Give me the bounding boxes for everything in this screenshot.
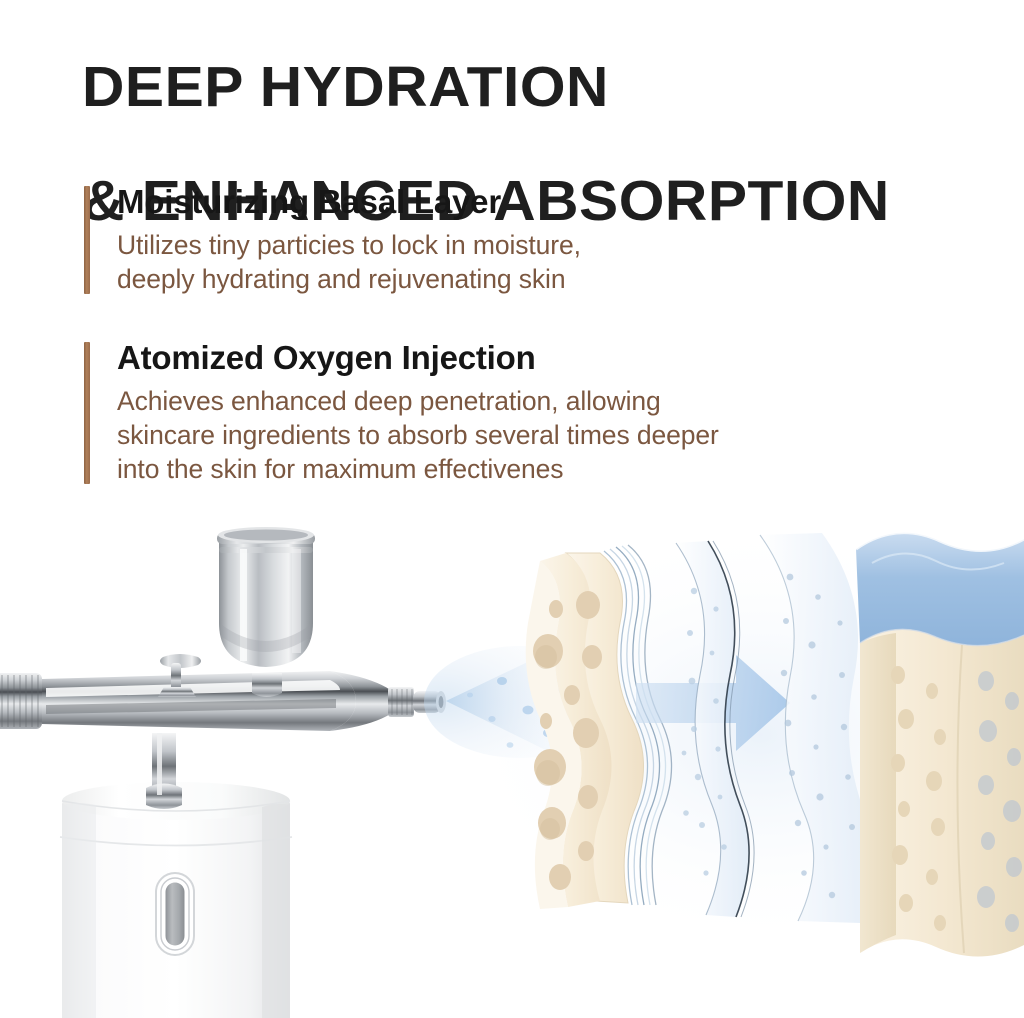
feature-description: Achieves enhanced deep penetration, allo…: [117, 384, 944, 486]
product-illustration: [0, 505, 1024, 1018]
skin-block-hydrated: [856, 533, 1024, 957]
feature-description: Utilizes tiny particies to lock in moist…: [117, 228, 944, 296]
accent-bar-icon: [84, 342, 90, 484]
product-feature-image: DEEP HYDRATION & ENHANCED ABSORPTION Moi…: [0, 0, 1024, 1018]
airbrush-device: [0, 527, 446, 1018]
power-button[interactable]: [156, 873, 194, 955]
cup-reservoir: [217, 527, 315, 697]
feature-title: Moisturizing Basal Layer: [117, 182, 944, 222]
feature-item-moisturizing-basal-layer: Moisturizing Basal Layer Utilizes tiny p…: [84, 182, 944, 296]
feature-item-atomized-oxygen-injection: Atomized Oxygen Injection Achieves enhan…: [84, 338, 944, 486]
accent-bar-icon: [84, 186, 90, 294]
airbrush-barrel: [0, 671, 446, 731]
device-base: [60, 782, 292, 1018]
feature-list: Moisturizing Basal Layer Utilizes tiny p…: [84, 182, 944, 528]
barrel-end-cap: [0, 673, 42, 729]
headline-line-1: DEEP HYDRATION: [82, 59, 1009, 116]
feature-title: Atomized Oxygen Injection: [117, 338, 944, 378]
device-post: [146, 733, 182, 809]
